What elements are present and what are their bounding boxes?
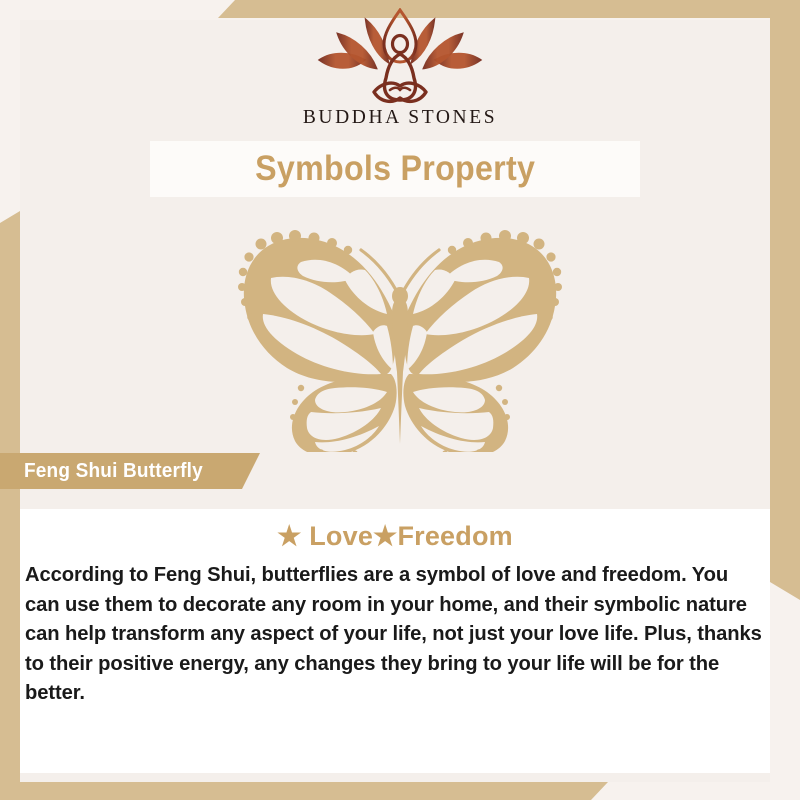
content-panel: ★ Love★Freedom According to Feng Shui, b… bbox=[20, 509, 770, 773]
brand-name: BUDDHA STONES bbox=[303, 107, 497, 129]
title-banner: Symbols Property bbox=[150, 141, 640, 197]
promo-page: BUDDHA STONES Symbols Property bbox=[0, 0, 800, 800]
gold-band-bottom bbox=[0, 782, 608, 800]
butterfly-icon bbox=[215, 222, 585, 452]
lotus-meditation-figure-icon bbox=[312, 8, 488, 106]
content-headline: ★ Love★Freedom bbox=[20, 521, 770, 552]
hero-graphic bbox=[0, 222, 800, 452]
feng-shui-label-text: Feng Shui Butterfly bbox=[24, 460, 203, 483]
brand-logo: BUDDHA STONES bbox=[0, 8, 800, 129]
content-paragraph: According to Feng Shui, butterflies are … bbox=[25, 561, 762, 709]
page-title: Symbols Property bbox=[255, 149, 535, 189]
feng-shui-label: Feng Shui Butterfly bbox=[0, 453, 260, 489]
